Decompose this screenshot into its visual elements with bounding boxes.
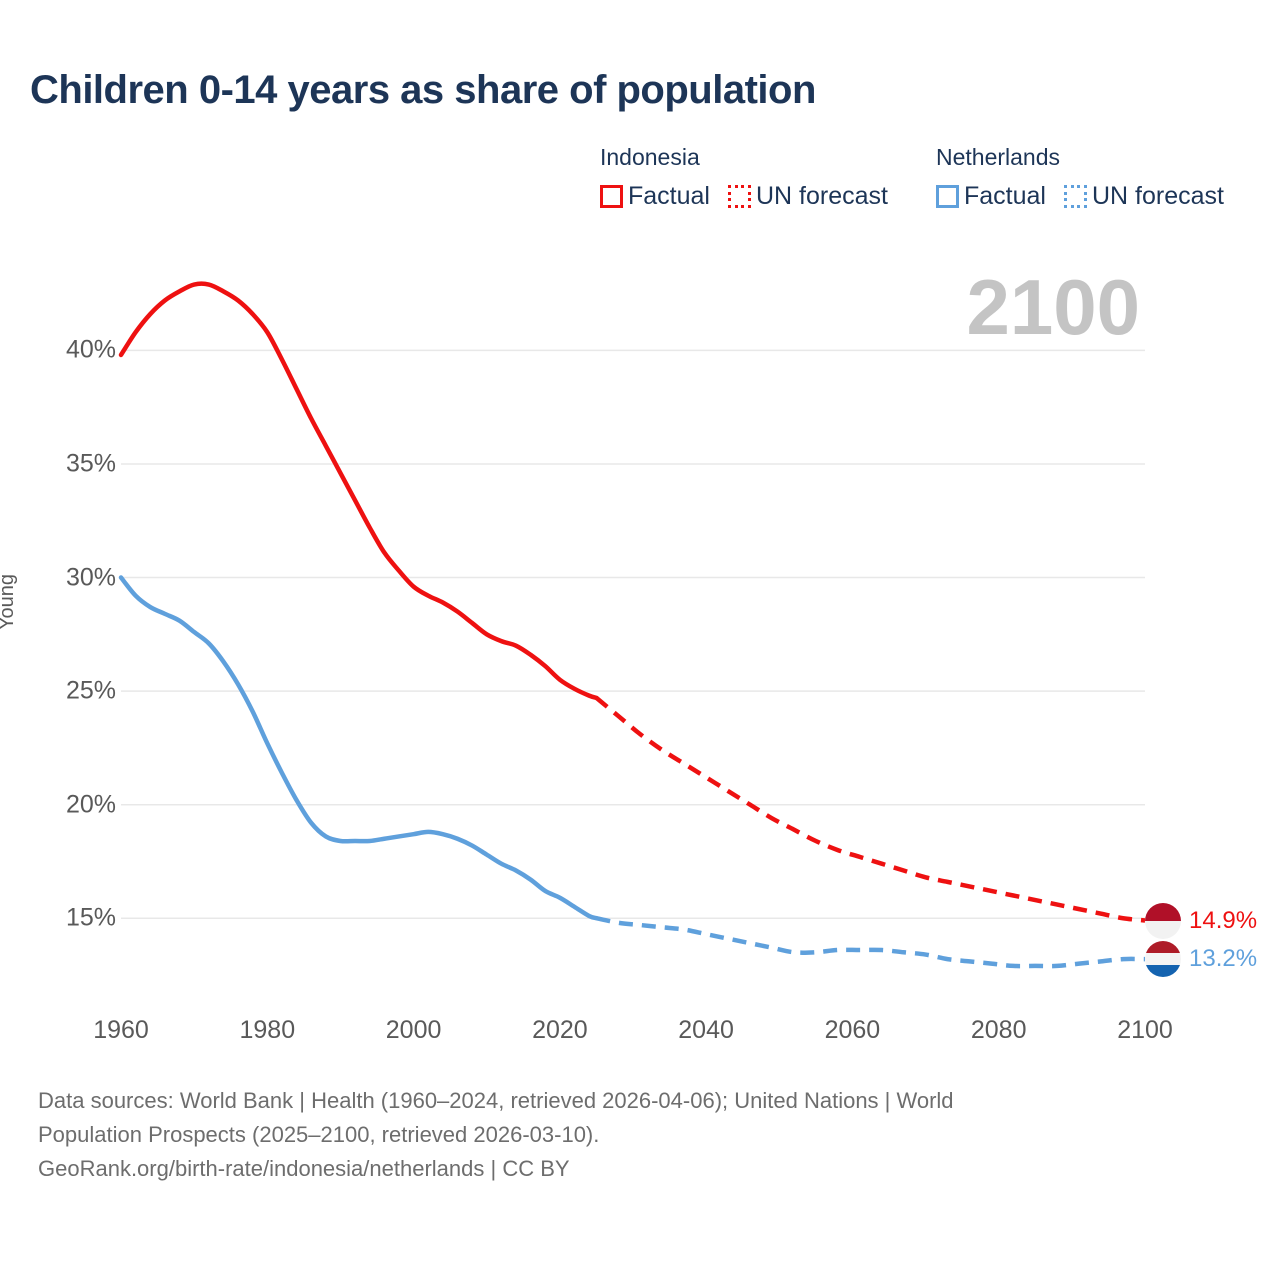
end-value-label-indonesia: 14.9% [1189,907,1257,935]
x-axis-tick-label: 2100 [1117,1016,1173,1045]
chart-page: Children 0-14 years as share of populati… [0,0,1280,1280]
x-axis-tick-label: 1980 [239,1016,295,1045]
series-line-factual-indonesia [121,284,596,698]
x-axis-tick-label: 2060 [825,1016,881,1045]
end-value-label-netherlands: 13.2% [1189,945,1257,973]
footer-line-1: Data sources: World Bank | Health (1960–… [38,1084,1198,1118]
x-axis-tick-label: 1960 [93,1016,149,1045]
footer-line-3: GeoRank.org/birth-rate/indonesia/netherl… [38,1152,1198,1186]
footer-credits: Data sources: World Bank | Health (1960–… [38,1084,1198,1186]
series-line-forecast-indonesia [596,698,1145,921]
footer-line-2: Population Prospects (2025–2100, retriev… [38,1118,1198,1152]
series-line-factual-netherlands [121,578,596,919]
y-axis-tick-label: 30% [66,563,116,592]
x-axis-tick-label: 2080 [971,1016,1027,1045]
y-axis-tick-label: 35% [66,450,116,479]
x-axis-tick-label: 2020 [532,1016,588,1045]
flag-marker-netherlands-icon [1145,941,1181,977]
y-axis-tick-label: 15% [66,904,116,933]
y-axis-tick-label: 20% [66,790,116,819]
x-axis-tick-label: 2040 [678,1016,734,1045]
flag-marker-indonesia-icon [1145,903,1181,939]
series-line-forecast-netherlands [596,918,1145,966]
y-axis-tick-label: 40% [66,336,116,365]
x-axis-tick-label: 2000 [386,1016,442,1045]
y-axis-tick-label: 25% [66,677,116,706]
flag-band [1145,953,1181,965]
